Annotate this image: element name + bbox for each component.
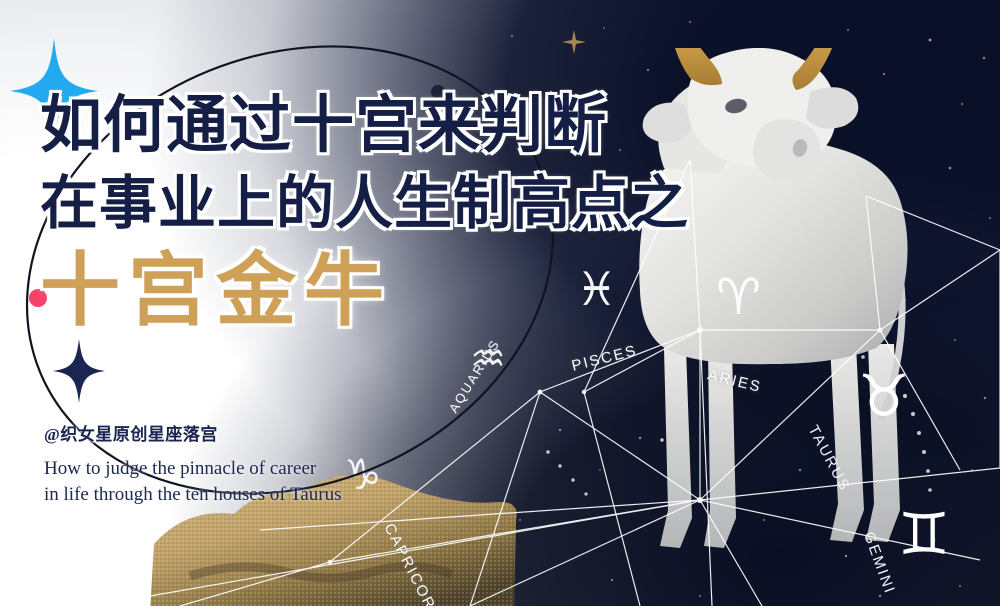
author-handle: @织女星原创星座落宫 — [44, 420, 474, 445]
subtitle-en-line-2: in life through the ten houses of Taurus — [44, 482, 474, 508]
title-block: 如何通过十宫来判断 在事业上的人生制高点之 十宫金牛 — [40, 86, 800, 340]
title-line-1: 如何通过十宫来判断 — [40, 86, 800, 166]
poster-canvas: ♒ ♓ ♈ ♉ ♊ ♑ AQUARIUS PISCES ARIES TAURUS… — [0, 0, 1000, 606]
subtitle-en-line-1: How to judge the pinnacle of career — [44, 456, 474, 482]
meta-block: @织女星原创星座落宫 How to judge the pinnacle of … — [44, 420, 474, 508]
title-line-2: 在事业上的人生制高点之 — [40, 166, 800, 242]
title-line-3-gold: 十宫金牛 — [40, 244, 800, 340]
